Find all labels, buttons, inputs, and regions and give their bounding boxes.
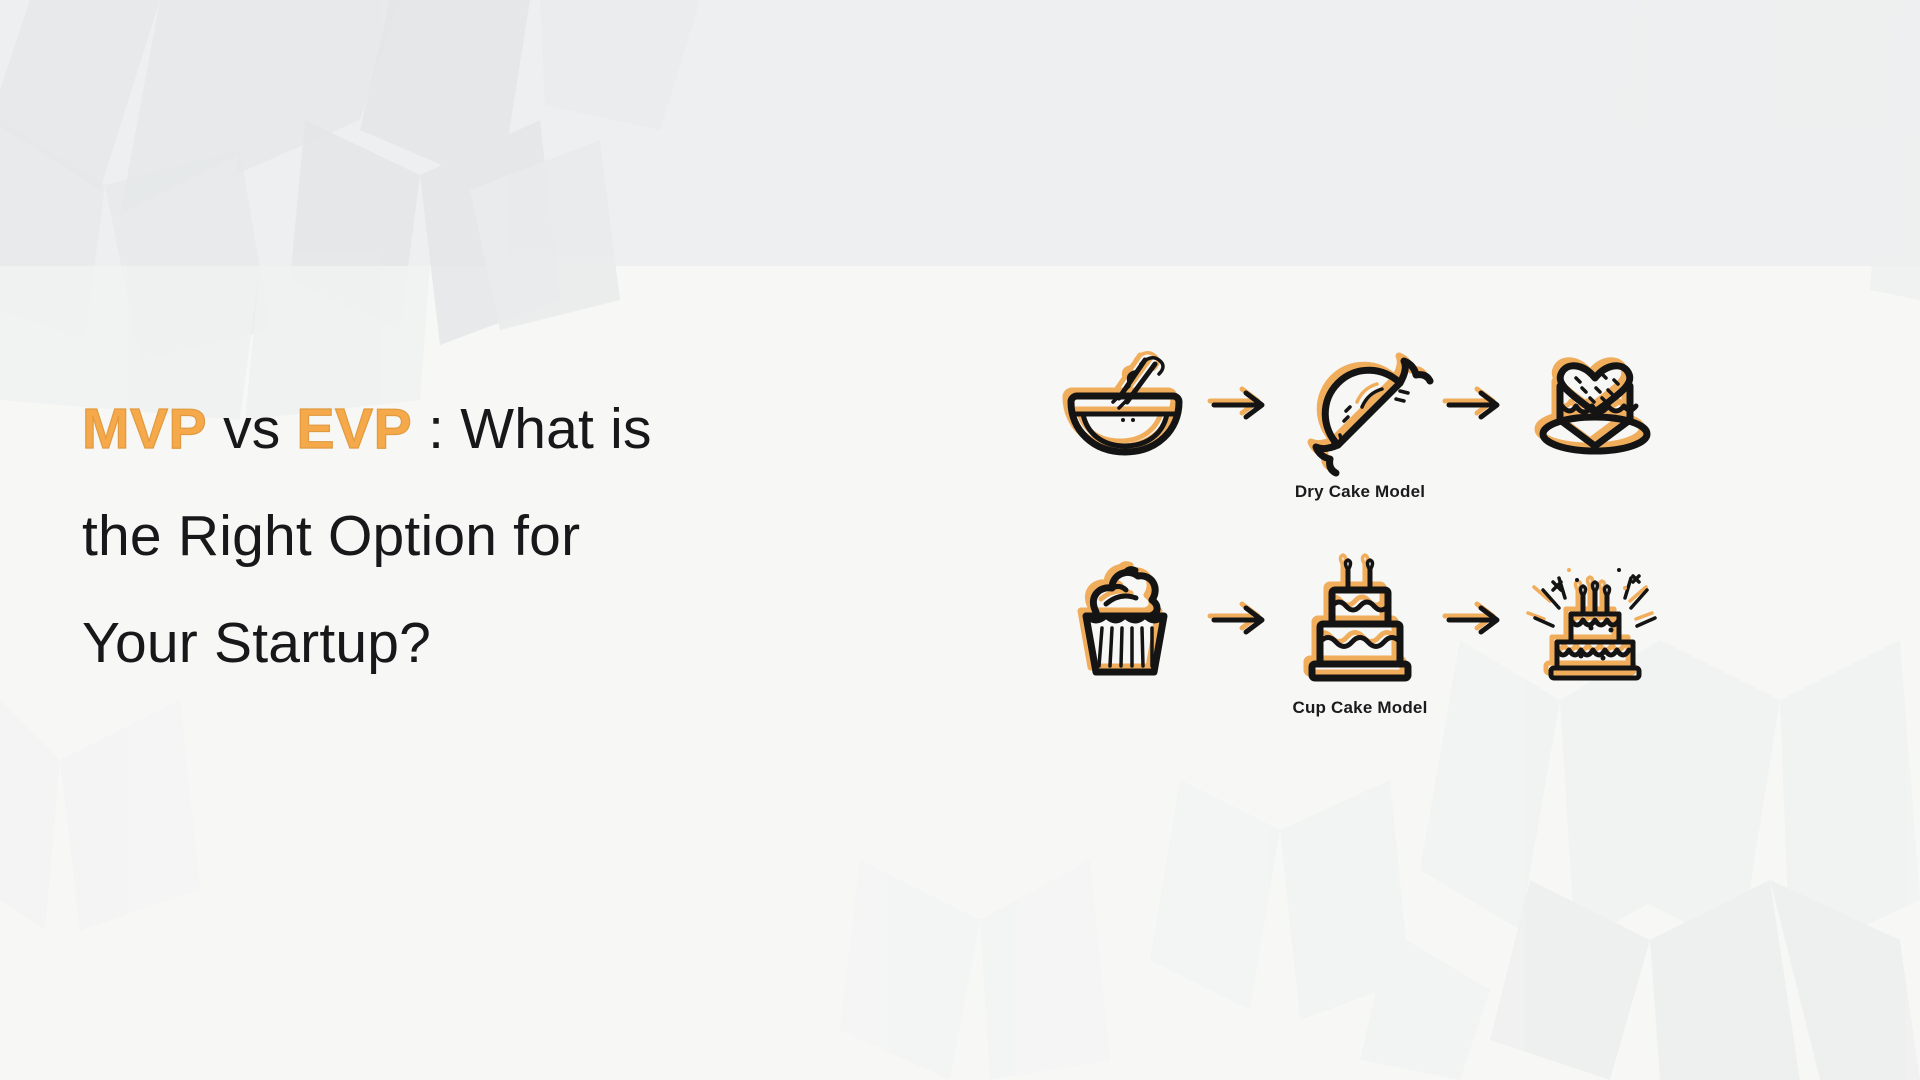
diagram-row-cup-cake — [1050, 552, 1670, 687]
step-arrow-4 — [1435, 555, 1520, 685]
arrow-right-icon — [1447, 601, 1509, 639]
title-evp-highlight: EVP — [297, 397, 413, 461]
mixing-bowl-whisk-icon — [1069, 350, 1181, 460]
tiered-cake-candles-icon — [1308, 558, 1412, 682]
title-line-3: Your Startup? — [82, 590, 842, 697]
arrow-right-icon — [1212, 386, 1274, 424]
page-title: MVP vs EVP : What is the Right Option fo… — [82, 376, 842, 697]
step-arrow-2 — [1435, 340, 1520, 470]
step-mixing-bowl — [1050, 340, 1200, 470]
title-line-2: the Right Option for — [82, 483, 842, 590]
step-arrow-3 — [1200, 555, 1285, 685]
step-arrow-1 — [1200, 340, 1285, 470]
diagram-row-dry-cake — [1050, 340, 1670, 470]
step-piping-bag — [1285, 340, 1435, 470]
row-label-cup-cake: Cup Cake Model — [1050, 698, 1670, 718]
step-heart-cake — [1520, 340, 1670, 470]
heart-cake-icon — [1536, 350, 1654, 460]
arrow-right-icon — [1212, 601, 1274, 639]
row-label-dry-cake: Dry Cake Model — [1050, 482, 1670, 502]
arrow-right-icon — [1447, 386, 1509, 424]
step-cupcake — [1050, 555, 1200, 685]
title-line1-rest: : What is — [428, 397, 652, 461]
step-celebration-cake — [1520, 555, 1670, 685]
background-band-top — [0, 0, 1920, 266]
title-vs-text: vs — [223, 397, 280, 461]
title-mvp-highlight: MVP — [82, 397, 207, 461]
celebration-cake-icon — [1533, 558, 1657, 682]
cupcake-icon — [1072, 562, 1178, 678]
step-tiered-cake — [1285, 555, 1435, 685]
piping-bag-icon — [1304, 349, 1416, 461]
page-root: MVP vs EVP : What is the Right Option fo… — [0, 0, 1920, 1080]
title-line-1: MVP vs EVP : What is — [82, 376, 842, 483]
